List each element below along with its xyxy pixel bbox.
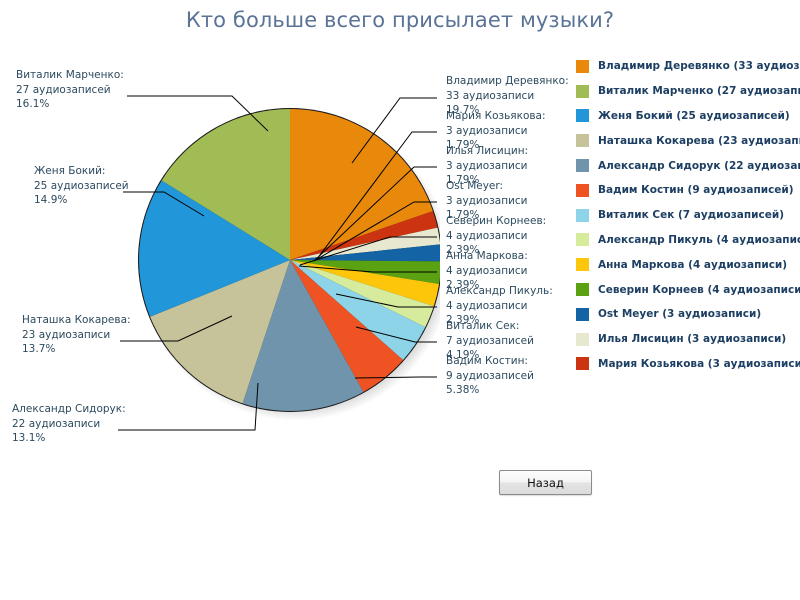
callout-name: Виталик Сек:: [446, 319, 534, 334]
callout-pct: 13.1%: [12, 431, 126, 446]
legend-color-swatch: [576, 308, 589, 321]
legend-item-label: Вадим Костин (9 аудиозаписей): [598, 184, 794, 196]
callout-count: 33 аудиозаписи: [446, 89, 569, 104]
legend-item[interactable]: Илья Лисицин (3 аудиозаписи): [576, 327, 800, 352]
callout-name: Анна Маркова:: [446, 249, 528, 264]
legend-item-label: Виталик Марченко (27 аудиозаписей): [598, 85, 800, 97]
callout-pct: 16.1%: [16, 97, 124, 112]
callout-count: 7 аудиозаписей: [446, 334, 534, 349]
callout-kokareva: Наташка Кокарева: 23 аудиозаписи 13.7%: [22, 313, 131, 357]
legend-color-swatch: [576, 333, 589, 346]
legend-item[interactable]: Женя Бокий (25 аудиозаписей): [576, 104, 800, 129]
callout-kostin: Вадим Костин: 9 аудиозаписей 5.38%: [446, 354, 534, 398]
callout-name: Илья Лисицин:: [446, 144, 528, 159]
callout-count: 3 аудиозаписи: [446, 159, 528, 174]
legend-item-label: Илья Лисицин (3 аудиозаписи): [598, 333, 786, 345]
callout-count: 27 аудиозаписей: [16, 83, 124, 98]
leader-line-kokareva: [120, 316, 232, 341]
callout-count: 4 аудиозаписи: [446, 299, 553, 314]
legend-item-label: Женя Бокий (25 аудиозаписей): [598, 110, 790, 122]
legend-item[interactable]: Виталик Марченко (27 аудиозаписей): [576, 79, 800, 104]
callout-count: 23 аудиозаписи: [22, 328, 131, 343]
legend-item-label: Наташка Кокарева (23 аудиозаписи): [598, 135, 800, 147]
callout-name: Владимир Деревянко:: [446, 74, 569, 89]
legend-item-label: Анна Маркова (4 аудиозаписи): [598, 259, 787, 271]
leader-line-bokiy: [123, 192, 204, 216]
chart-legend: Владимир Деревянко (33 аудиозаписВиталик…: [576, 54, 800, 376]
callout-count: 4 аудиозаписи: [446, 264, 528, 279]
legend-color-swatch: [576, 209, 589, 222]
legend-item[interactable]: Александр Пикуль (4 аудиозаписи): [576, 228, 800, 253]
legend-item[interactable]: Наташка Кокарева (23 аудиозаписи): [576, 128, 800, 153]
leader-line-derevyanko: [352, 98, 437, 163]
legend-item[interactable]: Мария Козьякова (3 аудиозаписи): [576, 352, 800, 377]
callout-count: 3 аудиозаписи: [446, 194, 527, 209]
leader-line-kostin: [355, 377, 437, 378]
legend-item[interactable]: Ost Meyer (3 аудиозаписи): [576, 302, 800, 327]
callout-count: 22 аудиозаписи: [12, 417, 126, 432]
legend-color-swatch: [576, 258, 589, 271]
pie-chart-page: Кто больше всего присылает музыки?: [0, 0, 800, 600]
legend-item-label: Александр Пикуль (4 аудиозаписи): [598, 234, 800, 246]
legend-item-label: Александр Сидорук (22 аудиозаписи): [598, 160, 800, 172]
legend-item-label: Северин Корнеев (4 аудиозаписи): [598, 284, 800, 296]
callout-name: Александр Пикуль:: [446, 284, 553, 299]
legend-color-swatch: [576, 60, 589, 73]
leader-line-markova: [299, 266, 437, 272]
legend-item-label: Ost Meyer (3 аудиозаписи): [598, 308, 761, 320]
callout-name: Мария Козьякова:: [446, 109, 546, 124]
callout-name: Ost Meyer:: [446, 179, 527, 194]
callout-pct: 13.7%: [22, 342, 131, 357]
callout-name: Вадим Костин:: [446, 354, 534, 369]
callout-count: 9 аудиозаписей: [446, 369, 534, 384]
legend-color-swatch: [576, 85, 589, 98]
callout-count: 25 аудиозаписей: [34, 179, 129, 194]
legend-color-swatch: [576, 283, 589, 296]
callout-marchenko: Виталик Марченко: 27 аудиозаписей 16.1%: [16, 68, 124, 112]
callout-name: Александр Сидорук:: [12, 402, 126, 417]
legend-item[interactable]: Северин Корнеев (4 аудиозаписи): [576, 277, 800, 302]
leader-line-korneev: [300, 237, 437, 265]
callout-count: 4 аудиозаписи: [446, 229, 546, 244]
legend-color-swatch: [576, 184, 589, 197]
legend-color-swatch: [576, 357, 589, 370]
callout-name: Наташка Кокарева:: [22, 313, 131, 328]
leader-line-sek: [356, 327, 437, 342]
legend-item[interactable]: Вадим Костин (9 аудиозаписей): [576, 178, 800, 203]
legend-item-label: Виталик Сек (7 аудиозаписей): [598, 209, 784, 221]
legend-item[interactable]: Александр Сидорук (22 аудиозаписи): [576, 153, 800, 178]
legend-color-swatch: [576, 159, 589, 172]
leader-line-ostmeyer: [314, 202, 437, 261]
callout-name: Женя Бокий:: [34, 164, 129, 179]
legend-item[interactable]: Владимир Деревянко (33 аудиозапис: [576, 54, 800, 79]
callout-name: Северин Корнеев:: [446, 214, 546, 229]
leader-line-sidoruk: [118, 383, 258, 430]
legend-color-swatch: [576, 109, 589, 122]
callout-pct: 14.9%: [34, 193, 129, 208]
leader-line-kozyakova: [317, 132, 437, 259]
callout-sidoruk: Александр Сидорук: 22 аудиозаписи 13.1%: [12, 402, 126, 446]
leader-line-pikul: [336, 294, 437, 307]
leader-line-marchenko: [127, 96, 268, 131]
legend-color-swatch: [576, 134, 589, 147]
callout-bokiy: Женя Бокий: 25 аудиозаписей 14.9%: [34, 164, 129, 208]
legend-item[interactable]: Анна Маркова (4 аудиозаписи): [576, 252, 800, 277]
legend-item-label: Владимир Деревянко (33 аудиозапис: [598, 60, 800, 72]
legend-item-label: Мария Козьякова (3 аудиозаписи): [598, 358, 800, 370]
callout-pct: 5.38%: [446, 383, 534, 398]
back-button[interactable]: Назад: [499, 470, 592, 495]
legend-item[interactable]: Виталик Сек (7 аудиозаписей): [576, 203, 800, 228]
callout-name: Виталик Марченко:: [16, 68, 124, 83]
legend-color-swatch: [576, 233, 589, 246]
callout-count: 3 аудиозаписи: [446, 124, 546, 139]
